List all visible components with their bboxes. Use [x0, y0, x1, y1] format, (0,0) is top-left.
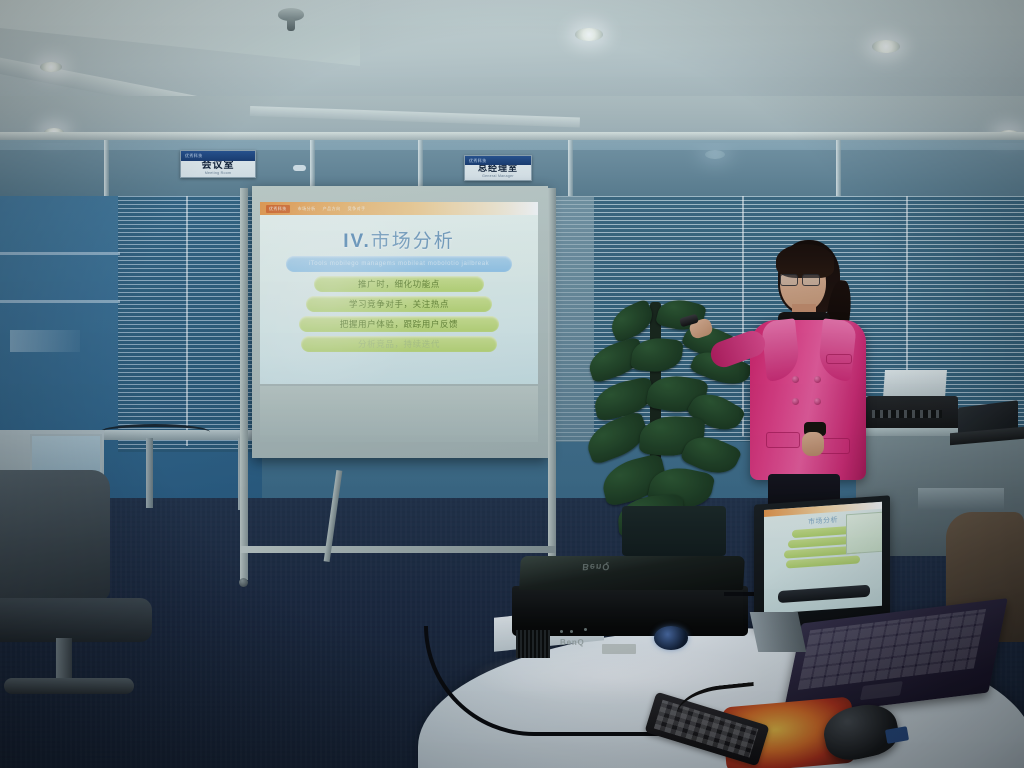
screen-stand-crossbar: [240, 546, 556, 553]
slide-logo: 优秀科技: [266, 205, 290, 213]
laptop-kickstand: [750, 612, 807, 652]
screen-stand-post: [548, 188, 556, 560]
glass-door-handle-icon: [293, 165, 306, 171]
presenter-person: [726, 236, 872, 502]
eyeglasses-icon: [780, 274, 820, 284]
blind-cord: [186, 196, 188, 446]
keyboard-keys[interactable]: [798, 609, 986, 690]
slide-nav-item: 竞争对手: [348, 206, 366, 212]
keyboard-trackpad[interactable]: [860, 681, 903, 700]
slide-bullet: 推广时，细化功能点: [314, 276, 484, 292]
presentation-slide: 优秀科技 市场分析 产品方向 竞争对手 IV.市场分析 完善2.0的功能 推广时…: [260, 202, 538, 384]
slide-nav-item: 市场分析: [298, 206, 316, 212]
projection-screen: 优秀科技 市场分析 产品方向 竞争对手 IV.市场分析 完善2.0的功能 推广时…: [252, 186, 548, 458]
coat-pocket: [766, 432, 800, 448]
coat-button: [792, 398, 799, 405]
coat-button: [814, 398, 821, 405]
coat-lapel: [761, 318, 801, 381]
mini-slide-side-note: [846, 512, 882, 555]
slide-bullet-products: iTools mobilego managems mobileat mobolo…: [286, 256, 512, 272]
desk-cable: [100, 424, 210, 440]
projector-brand-top: BenQ: [582, 562, 611, 572]
screen-stand-post: [240, 188, 248, 580]
ceiling-downlight-icon: [40, 62, 62, 72]
hair-fringe: [776, 244, 834, 278]
projector-top-cover: BenQ: [519, 556, 745, 590]
coat-button: [814, 376, 821, 383]
slide-bullet: 分析竞品，持续迭代: [301, 336, 497, 352]
slide-header-bar: 优秀科技 市场分析 产品方向 竞争对手: [260, 202, 538, 215]
slide-title-number: IV.: [343, 231, 371, 252]
glass-mullion: [836, 140, 841, 202]
glass-mullion: [104, 140, 109, 202]
mini-slide-footer-bar: [778, 585, 870, 603]
door-sign-banner: 优秀科技: [181, 151, 255, 161]
office-presentation-scene: 优秀科技 会议室 Meeting Room 优秀科技 总经理室 General …: [0, 0, 1024, 768]
coat-button: [792, 376, 799, 383]
door-sign-manager-office: 优秀科技 总经理室 General Manager: [464, 155, 532, 181]
pink-coat: [750, 320, 866, 480]
slide-nav-item: 产品方向: [323, 206, 341, 212]
slide-title-text: 市场分析: [371, 231, 455, 252]
printer-paper-tray: [883, 370, 947, 398]
office-chair-left: [0, 470, 166, 700]
coat-lapel: [817, 318, 857, 381]
slide-bullet: 学习竞争对手，关注热点: [306, 296, 492, 312]
chair-base: [4, 678, 134, 694]
chair-backrest: [0, 470, 110, 600]
screen-stand-wheel: [239, 578, 248, 587]
laptop-display-content: 市场分析: [764, 502, 882, 614]
chair-seat: [0, 598, 152, 642]
frosted-glass-strip: [0, 300, 120, 303]
door-sign-en-text: General Manager: [482, 174, 514, 178]
left-hand: [802, 432, 824, 456]
plant-pot: [622, 506, 726, 556]
ceiling-downlight-icon: [575, 28, 603, 41]
door-sign-en-text: Meeting Room: [205, 171, 231, 175]
door-sign-banner: 优秀科技: [465, 156, 531, 165]
door-sign-meeting-room: 优秀科技 会议室 Meeting Room: [180, 150, 256, 178]
slide-bullet: 把握用户体验，跟踪用户反馈: [299, 316, 499, 332]
slide-bullet-list: 完善2.0的功能 推广时，细化功能点 学习竞争对手，关注热点 把握用户体验，跟踪…: [260, 256, 538, 352]
screen-lower-blank: [260, 386, 538, 442]
wall-text-chinese-decal: [10, 330, 80, 352]
slide-title: IV.市场分析: [260, 226, 538, 253]
slide-header-nav: 市场分析 产品方向 竞争对手: [298, 206, 366, 212]
glass-mullion: [568, 140, 573, 200]
door-sign-banner-text: 优秀科技: [469, 158, 487, 164]
coat-chest-pocket: [826, 354, 852, 364]
laptop-screen: 市场分析: [754, 495, 890, 629]
ceiling-downlight-icon: [872, 40, 900, 53]
printer-panel: [872, 410, 942, 418]
door-sign-banner-text: 优秀科技: [185, 153, 203, 159]
frosted-glass-strip: [0, 252, 120, 255]
smoke-detector-icon: [278, 8, 304, 21]
